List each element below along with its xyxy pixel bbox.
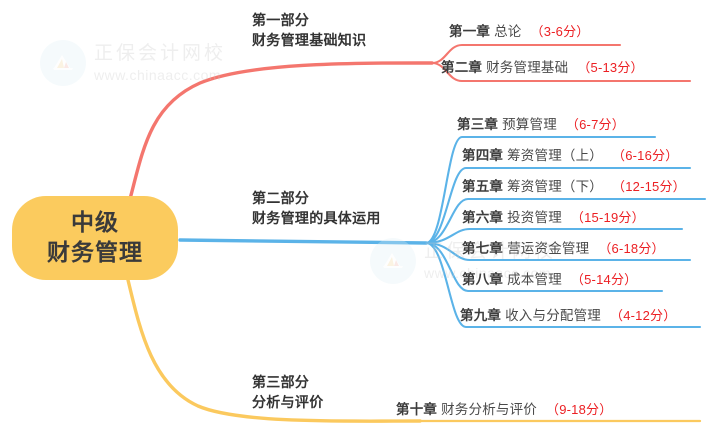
watermark-top-left: 正保会计网校 www.chinaacc.com	[40, 40, 226, 86]
chapter-row[interactable]: 第六章 投资管理 （15-19分）	[462, 206, 645, 226]
chapter-score: （6-16分）	[612, 145, 678, 164]
chapter-number: 第十章	[396, 398, 437, 418]
part-two-line2: 财务管理的具体运用	[252, 208, 381, 228]
watermark-text: 正保会计网校 www.chinaacc.com	[94, 42, 226, 84]
watermark-brand: 正保会计网校	[94, 42, 226, 66]
part-three-line2: 分析与评价	[252, 392, 324, 412]
chapter-score: （4-12分）	[610, 305, 676, 324]
chapter-score: （5-13分）	[577, 57, 643, 76]
chapter-score: （12-15分）	[612, 176, 686, 195]
chapter-row[interactable]: 第八章 成本管理 （5-14分）	[462, 268, 637, 288]
chinaacc-logo-icon	[40, 40, 86, 86]
chapter-number: 第六章	[462, 206, 503, 226]
chapter-row[interactable]: 第十章 财务分析与评价 （9-18分）	[396, 398, 612, 418]
chapter-score: （3-6分）	[531, 21, 590, 40]
chapter-score: （6-7分）	[566, 114, 625, 133]
part-two-line1: 第二部分	[252, 188, 381, 208]
chapter-title: 营运资金管理	[507, 237, 589, 257]
chapter-row[interactable]: 第七章 营运资金管理 （6-18分）	[462, 237, 665, 257]
part-label-three[interactable]: 第三部分 分析与评价	[252, 372, 324, 413]
chapter-number: 第九章	[460, 304, 501, 324]
chapter-number: 第三章	[457, 113, 498, 133]
part-one-line2: 财务管理基础知识	[252, 30, 366, 50]
mindmap-canvas: 正保会计网校 www.chinaacc.com 正保会计网校 www.china…	[0, 0, 710, 427]
chapter-score: （6-18分）	[598, 238, 664, 257]
root-node-line1: 中级	[71, 208, 119, 238]
chapter-row[interactable]: 第四章 筹资管理（上） （6-16分）	[462, 144, 678, 164]
chapter-number: 第二章	[441, 56, 482, 76]
chapter-number: 第一章	[449, 20, 490, 40]
root-node[interactable]: 中级 财务管理	[12, 196, 178, 280]
chapter-row[interactable]: 第三章 预算管理 （6-7分）	[457, 113, 625, 133]
chapter-number: 第八章	[462, 268, 503, 288]
chapter-row[interactable]: 第五章 筹资管理（下） （12-15分）	[462, 175, 686, 195]
chinaacc-logo-icon	[370, 238, 416, 284]
chapter-score: （5-14分）	[571, 269, 637, 288]
chapter-title: 总论	[494, 20, 521, 40]
chapter-title: 成本管理	[507, 268, 562, 288]
chapter-row[interactable]: 第二章 财务管理基础 （5-13分）	[441, 56, 644, 76]
chapter-row[interactable]: 第一章 总论 （3-6分）	[449, 20, 590, 40]
chapter-score: （9-18分）	[546, 399, 612, 418]
chapter-row[interactable]: 第九章 收入与分配管理 （4-12分）	[460, 304, 676, 324]
root-node-line2: 财务管理	[47, 238, 143, 268]
chapter-number: 第五章	[462, 175, 503, 195]
edge-root-to-part-one	[130, 63, 432, 199]
chapter-number: 第七章	[462, 237, 503, 257]
chapter-number: 第四章	[462, 144, 503, 164]
part-label-one[interactable]: 第一部分 财务管理基础知识	[252, 10, 366, 51]
chapter-title: 预算管理	[502, 113, 557, 133]
chapter-score: （15-19分）	[571, 207, 645, 226]
chapter-title: 财务分析与评价	[441, 398, 537, 418]
part-label-two[interactable]: 第二部分 财务管理的具体运用	[252, 188, 381, 229]
part-three-line1: 第三部分	[252, 372, 324, 392]
part-one-line1: 第一部分	[252, 10, 366, 30]
chapter-title: 收入与分配管理	[505, 304, 601, 324]
edge-root-to-part-two	[180, 240, 426, 243]
chapter-title: 筹资管理（下）	[507, 175, 603, 195]
chapter-title: 投资管理	[507, 206, 562, 226]
chapter-title: 筹资管理（上）	[507, 144, 603, 164]
chapter-title: 财务管理基础	[486, 56, 568, 76]
watermark-url: www.chinaacc.com	[94, 66, 226, 84]
